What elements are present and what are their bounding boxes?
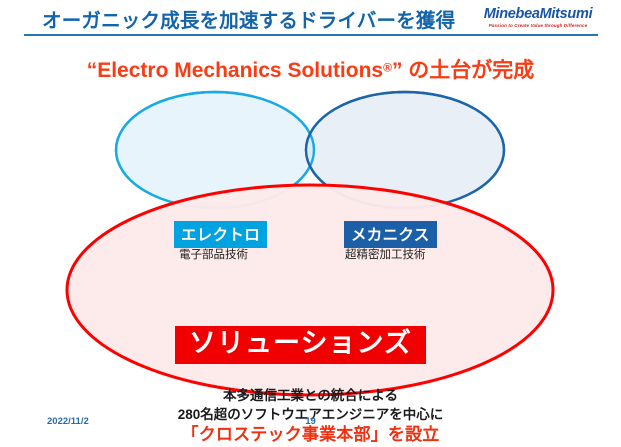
mechanics-subtext: 超精密加工技術: [345, 246, 426, 262]
footer-page-number: 19: [0, 416, 621, 427]
header-divider: [24, 34, 598, 36]
venn-diagram: エレクトロ 電子部品技術 メカニクス 超精密加工技術 ソリューションズ 本多通信…: [0, 90, 621, 400]
electro-subtext: 電子部品技術: [179, 246, 248, 262]
subtitle-main: “Electro Mechanics Solutions: [87, 59, 383, 82]
electro-label: エレクトロ: [174, 221, 267, 248]
brand-logo-name: MinebeaMitsumi: [473, 7, 603, 22]
page-title: オーガニック成長を加速するドライバーを獲得: [42, 4, 455, 33]
mechanics-label: メカニクス: [344, 221, 437, 248]
solutions-banner: ソリューションズ: [175, 326, 426, 364]
brand-logo-tagline: Passion to Create Value through Differen…: [472, 24, 605, 28]
solutions-body-line-1: 本多通信工業との統合による: [0, 386, 621, 405]
registered-mark-icon: ®: [383, 61, 392, 75]
solutions-highlight-line: 「クロステック事業本部」を設立: [0, 424, 621, 447]
brand-logo: MinebeaMitsumi Passion to Create Value t…: [473, 7, 603, 28]
subtitle-tail: ” の土台が完成: [392, 59, 534, 82]
slide-subtitle: “Electro Mechanics Solutions®” の土台が完成: [0, 54, 621, 84]
